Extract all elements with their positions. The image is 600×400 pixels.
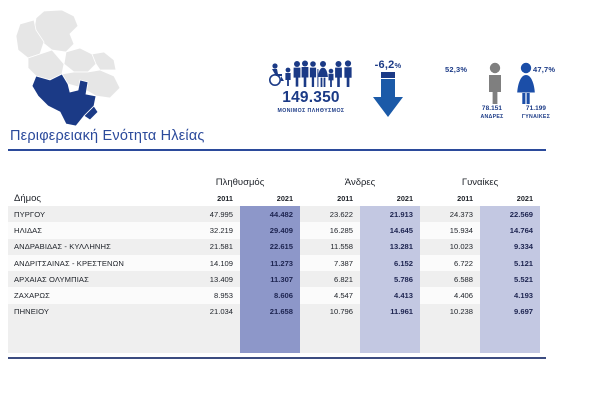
table-row: ΑΝΔΡΙΤΣΑΙΝΑΣ - ΚΡΕΣΤΕΝΩΝ14.10911.2737.38… [8,255,540,271]
population-change: -6,2% [363,60,413,118]
cell-women2011: 15.934 [420,222,480,238]
table-bottom-divider [8,357,546,359]
cell-pop2011: 13.409 [180,271,240,287]
cell-pop2011: 21.581 [180,239,240,255]
band-filler-cell [8,342,180,353]
col-group-men: Άνδρες [300,168,420,190]
band-filler-cell [360,320,420,331]
band-filler-cell [480,342,540,353]
band-filler-cell [300,331,360,342]
male-count: 78.151 [469,105,515,112]
cell-women2021: 5.121 [480,255,540,271]
table-row: ΑΡΧΑΙΑΣ ΟΛΥΜΠΙΑΣ13.40911.3076.8215.7866.… [8,271,540,287]
region-map-icon [4,8,134,130]
infographic-page: 149.350 ΜΟΝΙΜΟΣ ΠΛΗΘΥΣΜΟΣ -6,2% 52,3% 47… [0,0,600,400]
population-table: Δήμος Πληθυσμός Άνδρες Γυναίκες 2011 202… [8,168,540,353]
band-filler-row [8,331,540,342]
title-section: Περιφερειακή Ενότητα Ηλείας [8,128,592,151]
cell-pop2011: 32.219 [180,222,240,238]
male-percent: 52,3% [445,65,467,74]
group-header-row: Δήμος Πληθυσμός Άνδρες Γυναίκες [8,168,540,190]
band-filler-cell [300,342,360,353]
female-figure-icon [515,62,537,109]
cell-men2011: 23.622 [300,206,360,222]
cell-pop2021: 22.615 [240,239,300,255]
change-percent-label: -6,2% [363,60,413,71]
table-row: ΖΑΧΑΡΩΣ8.9538.6064.5474.4134.4064.193 [8,287,540,303]
cell-women2021: 5.521 [480,271,540,287]
cell-pop2011: 8.953 [180,287,240,303]
band-filler-cell [240,320,300,331]
band-filler-cell [360,331,420,342]
male-label: ΑΝΔΡΕΣ [469,114,515,120]
cell-men2011: 7.387 [300,255,360,271]
row-municipality-name: ΑΡΧΑΙΑΣ ΟΛΥΜΠΙΑΣ [8,271,180,287]
cell-women2011: 24.373 [420,206,480,222]
population-summary: 149.350 ΜΟΝΙΜΟΣ ΠΛΗΘΥΣΜΟΣ [262,57,360,114]
band-filler-cell [480,331,540,342]
cell-pop2021: 11.273 [240,255,300,271]
page-title: Περιφερειακή Ενότητα Ηλείας [8,128,592,144]
col-header-men-2021: 2021 [360,190,420,206]
gender-split: 52,3% 47,7% 78.151 71.199 ΑΝΔΡΕΣ ΓΥΝΑΙΚΕ… [437,58,587,128]
cell-men2021: 14.645 [360,222,420,238]
cell-men2011: 4.547 [300,287,360,303]
cell-women2021: 4.193 [480,287,540,303]
table-head: Δήμος Πληθυσμός Άνδρες Γυναίκες 2011 202… [8,168,540,206]
cell-women2011: 6.588 [420,271,480,287]
band-filler-cell [360,342,420,353]
row-municipality-name: ΑΝΔΡΑΒΙΔΑΣ - ΚΥΛΛΗΝΗΣ [8,239,180,255]
cell-men2011: 11.558 [300,239,360,255]
cell-pop2021: 11.307 [240,271,300,287]
cell-women2021: 14.764 [480,222,540,238]
col-group-population: Πληθυσμός [180,168,300,190]
arrow-down-icon [363,72,413,118]
row-municipality-name: ΑΝΔΡΙΤΣΑΙΝΑΣ - ΚΡΕΣΤΕΝΩΝ [8,255,180,271]
band-filler-cell [180,331,240,342]
band-filler-cell [420,331,480,342]
region-map [4,8,134,130]
band-filler-cell [240,342,300,353]
col-group-women: Γυναίκες [420,168,540,190]
cell-pop2011: 47.995 [180,206,240,222]
female-count: 71.199 [513,105,559,112]
cell-pop2021: 29.409 [240,222,300,238]
cell-pop2021: 44.482 [240,206,300,222]
band-filler-cell [8,320,180,331]
cell-women2021: 9.334 [480,239,540,255]
population-table-wrap: Δήμος Πληθυσμός Άνδρες Γυναίκες 2011 202… [8,168,592,359]
band-filler-cell [420,320,480,331]
col-header-women-2011: 2011 [420,190,480,206]
cell-men2021: 21.913 [360,206,420,222]
cell-men2011: 10.796 [300,304,360,320]
band-filler-cell [8,331,180,342]
band-filler-cell [180,342,240,353]
col-header-name: Δήμος [8,168,180,206]
cell-men2021: 5.786 [360,271,420,287]
cell-men2021: 6.152 [360,255,420,271]
col-header-pop-2011: 2011 [180,190,240,206]
title-divider [8,149,546,151]
cell-pop2021: 8.606 [240,287,300,303]
cell-pop2011: 21.034 [180,304,240,320]
col-header-women-2021: 2021 [480,190,540,206]
female-label: ΓΥΝΑΙΚΕΣ [513,114,559,120]
cell-men2011: 6.821 [300,271,360,287]
cell-men2021: 11.961 [360,304,420,320]
people-group-icon [262,57,360,89]
cell-men2021: 13.281 [360,239,420,255]
male-figure-icon [485,62,505,109]
table-row: ΠΥΡΓΟΥ47.99544.48223.62221.91324.37322.5… [8,206,540,222]
band-filler-cell [300,320,360,331]
cell-women2011: 4.406 [420,287,480,303]
band-filler-row [8,320,540,331]
table-row: ΠΗΝΕΙΟΥ21.03421.65810.79611.96110.2389.6… [8,304,540,320]
band-filler-cell [420,342,480,353]
col-header-men-2011: 2011 [300,190,360,206]
table-body: ΠΥΡΓΟΥ47.99544.48223.62221.91324.37322.5… [8,206,540,353]
cell-women2011: 10.238 [420,304,480,320]
population-total: 149.350 [262,90,360,106]
band-filler-cell [480,320,540,331]
cell-men2021: 4.413 [360,287,420,303]
population-caption: ΜΟΝΙΜΟΣ ΠΛΗΘΥΣΜΟΣ [262,108,360,114]
cell-women2011: 10.023 [420,239,480,255]
cell-men2011: 16.285 [300,222,360,238]
row-municipality-name: ΖΑΧΑΡΩΣ [8,287,180,303]
band-filler-cell [180,320,240,331]
col-header-pop-2021: 2021 [240,190,300,206]
table-row: ΗΛΙΔΑΣ32.21929.40916.28514.64515.93414.7… [8,222,540,238]
row-municipality-name: ΠΗΝΕΙΟΥ [8,304,180,320]
cell-women2021: 22.569 [480,206,540,222]
band-filler-row [8,342,540,353]
band-filler-cell [240,331,300,342]
cell-women2011: 6.722 [420,255,480,271]
row-municipality-name: ΠΥΡΓΟΥ [8,206,180,222]
cell-women2021: 9.697 [480,304,540,320]
row-municipality-name: ΗΛΙΔΑΣ [8,222,180,238]
table-row: ΑΝΔΡΑΒΙΔΑΣ - ΚΥΛΛΗΝΗΣ21.58122.61511.5581… [8,239,540,255]
cell-pop2021: 21.658 [240,304,300,320]
cell-pop2011: 14.109 [180,255,240,271]
